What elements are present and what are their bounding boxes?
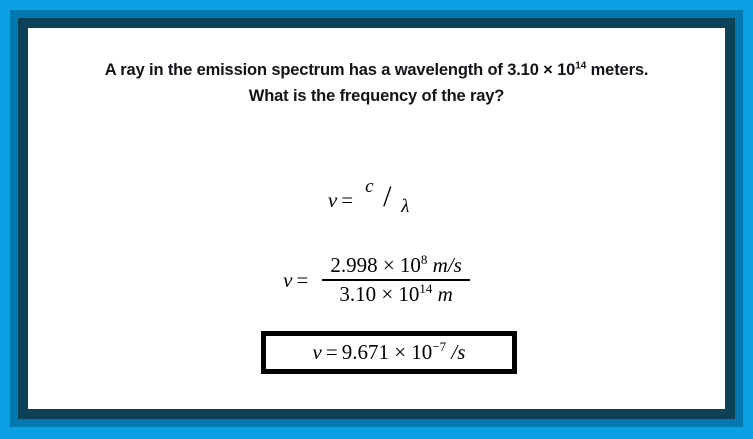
formula1-fraction: c / λ: [363, 178, 425, 222]
formula2-denominator-mantissa: 3.10 × 10: [339, 282, 419, 306]
slide-content-area: A ray in the emission spectrum has a wav…: [30, 30, 723, 407]
answer-box: v=9.671 × 10−7 /s: [261, 331, 517, 374]
formula-substitution-row: v = 2.998 × 108 m/s 3.10 × 1014 m: [283, 252, 470, 308]
question-line1-part1: A ray in the emission spectrum has a wav…: [105, 61, 575, 79]
formula1-slash: /: [383, 180, 391, 214]
formula2-fraction: 2.998 × 108 m/s 3.10 × 1014 m: [322, 252, 470, 308]
formula2-numerator-mantissa: 2.998 × 10: [330, 253, 421, 277]
formula-definition: v = c / λ: [30, 178, 723, 222]
formula2-denominator-unit: m: [432, 282, 452, 306]
formula2-equals: =: [292, 268, 312, 293]
formula1-denominator: λ: [401, 196, 409, 218]
answer-equals: =: [322, 340, 342, 364]
question-text: A ray in the emission spectrum has a wav…: [30, 58, 723, 109]
formula-definition-row: v = c / λ: [328, 178, 425, 222]
question-line1-exponent: 14: [575, 61, 586, 72]
formula2-denominator: 3.10 × 1014 m: [331, 281, 461, 308]
formula2-variable: v: [283, 268, 292, 293]
formula-substitution: v = 2.998 × 108 m/s 3.10 × 1014 m: [30, 252, 723, 308]
border-band-middle: A ray in the emission spectrum has a wav…: [10, 10, 743, 427]
border-band-dark: A ray in the emission spectrum has a wav…: [18, 18, 735, 419]
border-hairline-white: A ray in the emission spectrum has a wav…: [28, 28, 725, 409]
formula2-numerator: 2.998 × 108 m/s: [322, 252, 470, 281]
formula1-numerator: c: [365, 176, 373, 198]
answer-mantissa: 9.671 × 10: [342, 340, 433, 364]
answer-unit: /s: [446, 340, 465, 364]
question-line2: What is the frequency of the ray?: [249, 87, 504, 105]
formula1-variable: v: [328, 188, 337, 213]
answer-line: v=9.671 × 10−7 /s: [313, 340, 466, 365]
answer-variable: v: [313, 340, 322, 364]
formula1-equals: =: [337, 188, 357, 213]
question-line1-part2: meters.: [586, 61, 648, 79]
answer-exponent: −7: [432, 339, 446, 354]
formula2-numerator-unit: m/s: [427, 253, 461, 277]
slide-frame: A ray in the emission spectrum has a wav…: [0, 0, 753, 439]
formula2-denominator-exponent: 14: [419, 281, 432, 296]
